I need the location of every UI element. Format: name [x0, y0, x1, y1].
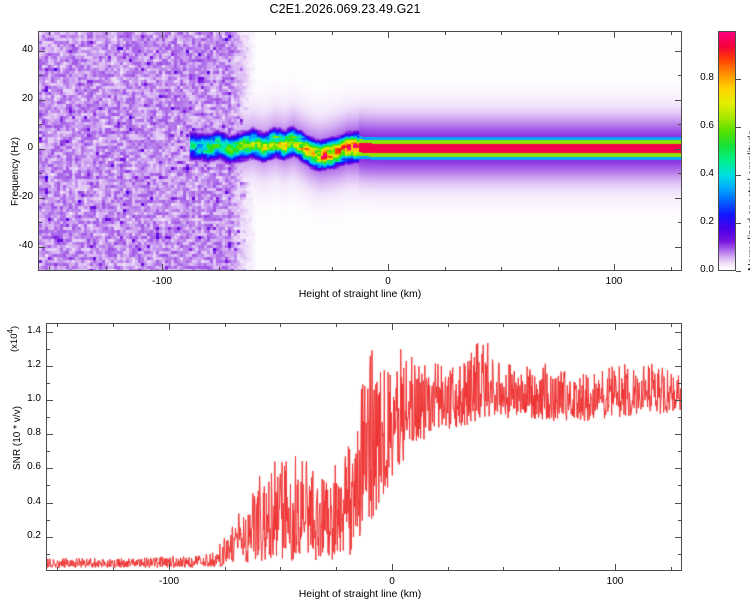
spec-xtick-minor-top [219, 31, 220, 35]
spec-ytick-major [38, 198, 45, 199]
spectrogram-plot-area [38, 31, 682, 271]
snr-xtick-major-top [615, 323, 616, 330]
spec-xtick-minor [558, 267, 559, 271]
snr-xtick-minor-top [225, 323, 226, 327]
colorbar-tick-label: 0.6 [688, 120, 714, 131]
snr-xtick-label: -100 [153, 576, 185, 587]
snr-ytick-minor-right [678, 383, 682, 384]
spec-xtick-minor-top [275, 31, 276, 35]
snr-xtick-label: 100 [599, 576, 631, 587]
snr-xtick-minor [57, 567, 58, 571]
spec-xtick-minor [501, 267, 502, 271]
snr-ytick-minor-right [678, 554, 682, 555]
spec-xtick-major-top [388, 31, 389, 38]
snr-xtick-major [169, 564, 170, 571]
colorbar-tick-label: 0.2 [688, 216, 714, 227]
spec-ytick-major-right [675, 100, 682, 101]
snr-ytick-minor-right [678, 485, 682, 486]
snr-ytick-label: 0.4 [12, 496, 41, 507]
snr-ytick-minor-right [678, 417, 682, 418]
snr-xtick-major [615, 564, 616, 571]
spec-xtick-major [162, 264, 163, 271]
spec-xtick-minor [219, 267, 220, 271]
snr-xtick-major-top [392, 323, 393, 330]
spec-ytick-major [38, 100, 45, 101]
spec-ytick-label: -20 [6, 191, 33, 202]
spec-xtick-minor-top [501, 31, 502, 35]
spec-xtick-minor-top [332, 31, 333, 35]
snr-xtick-label: 0 [376, 576, 408, 587]
snr-plot-area [46, 323, 682, 571]
snr-ytick-minor-right [678, 349, 682, 350]
spec-ytick-major-right [675, 198, 682, 199]
colorbar-tick-label: 0.0 [688, 264, 714, 275]
snr-ytick-major-right [675, 468, 682, 469]
spec-ylabel: Frequency (Hz) [10, 206, 79, 217]
spec-xtick-minor [106, 267, 107, 271]
spec-ytick-major [38, 149, 45, 150]
snr-xtick-minor-top [57, 323, 58, 327]
snr-ytick-label: 0.6 [12, 461, 41, 472]
spec-xtick-major-top [614, 31, 615, 38]
snr-ytick-minor-right [678, 451, 682, 452]
spec-ytick-minor-right [678, 75, 682, 76]
snr-ytick-major-right [675, 400, 682, 401]
snr-trace [47, 324, 681, 570]
snr-xtick-minor [113, 567, 114, 571]
snr-ytick-major-right [675, 537, 682, 538]
spec-ytick-minor-right [678, 173, 682, 174]
spec-xtick-minor [49, 267, 50, 271]
spec-xtick-label: 0 [372, 276, 404, 287]
spec-xtick-minor-top [671, 31, 672, 35]
spec-xtick-label: 100 [598, 276, 630, 287]
snr-xlabel: Height of straight line (km) [210, 588, 510, 600]
snr-xtick-major-top [169, 323, 170, 330]
spec-ytick-major-right [675, 247, 682, 248]
snr-xtick-minor [503, 567, 504, 571]
spec-xtick-minor [332, 267, 333, 271]
snr-ytick-minor [46, 417, 50, 418]
snr-ytick-label: 0.8 [12, 427, 41, 438]
spec-ytick-minor [38, 75, 42, 76]
snr-xtick-minor [336, 567, 337, 571]
snr-ytick-major [46, 468, 53, 469]
spec-xtick-major [388, 264, 389, 271]
spec-ytick-minor [38, 222, 42, 223]
snr-ytick-minor [46, 349, 50, 350]
colorbar-tick [736, 223, 741, 224]
spec-xtick-minor-top [558, 31, 559, 35]
spec-xtick-label: -100 [146, 276, 178, 287]
snr-ytick-major-right [675, 434, 682, 435]
snr-ytick-minor [46, 554, 50, 555]
snr-ytick-major-right [675, 503, 682, 504]
colorbar [718, 31, 736, 271]
snr-ytick-minor [46, 485, 50, 486]
snr-ytick-label: 0.2 [12, 530, 41, 541]
spec-xtick-minor [671, 267, 672, 271]
colorbar-label: Normalized spectral amplitude [746, 271, 750, 283]
snr-ytick-label: 1.4 [12, 325, 41, 336]
snr-ytick-label: 1.2 [12, 359, 41, 370]
snr-xtick-minor-top [280, 323, 281, 327]
snr-ytick-major [46, 537, 53, 538]
spec-ytick-major [38, 51, 45, 52]
snr-xtick-minor [671, 567, 672, 571]
snr-ytick-major-right [675, 332, 682, 333]
snr-ytick-major [46, 400, 53, 401]
spec-ytick-label: 20 [6, 93, 33, 104]
snr-xtick-minor-top [559, 323, 560, 327]
colorbar-tick [736, 271, 741, 272]
colorbar-tick [736, 175, 741, 176]
snr-xtick-minor-top [671, 323, 672, 327]
snr-xtick-minor [225, 567, 226, 571]
spec-ytick-minor-right [678, 124, 682, 125]
spec-xtick-minor-top [106, 31, 107, 35]
snr-ytick-minor [46, 383, 50, 384]
figure-title: C2E1.2026.069.23.49.G21 [0, 2, 690, 16]
spec-ytick-label: -40 [6, 240, 33, 251]
snr-ytick-minor [46, 451, 50, 452]
spec-xlabel: Height of straight line (km) [210, 288, 510, 300]
snr-ytick-major-right [675, 366, 682, 367]
spec-xtick-minor-top [445, 31, 446, 35]
snr-xtick-minor-top [113, 323, 114, 327]
colorbar-tick [736, 79, 741, 80]
spec-xtick-minor [445, 267, 446, 271]
snr-xtick-minor-top [503, 323, 504, 327]
spectrogram-image [39, 32, 681, 270]
spec-ytick-minor [38, 173, 42, 174]
spec-ytick-minor-right [678, 222, 682, 223]
snr-ytick-minor [46, 520, 50, 521]
snr-ytick-label: 1.0 [12, 393, 41, 404]
snr-ytick-minor-right [678, 520, 682, 521]
snr-xtick-minor [448, 567, 449, 571]
spec-xtick-major [614, 264, 615, 271]
colorbar-tick-label: 0.4 [688, 168, 714, 179]
spec-xtick-minor [275, 267, 276, 271]
spec-ytick-minor [38, 124, 42, 125]
spec-ytick-major [38, 247, 45, 248]
snr-ytick-major [46, 332, 53, 333]
spec-ytick-label: 40 [6, 44, 33, 55]
snr-xtick-minor [280, 567, 281, 571]
colorbar-tick [736, 127, 741, 128]
spec-ytick-major-right [675, 149, 682, 150]
spec-xtick-minor-top [49, 31, 50, 35]
spec-ytick-major-right [675, 51, 682, 52]
snr-ytick-major [46, 434, 53, 435]
snr-xtick-minor-top [448, 323, 449, 327]
figure-root: C2E1.2026.069.23.49.G21 Frequency (Hz) H… [0, 0, 750, 600]
snr-ytick-major [46, 503, 53, 504]
spec-ytick-label: 0 [6, 142, 33, 153]
snr-ytick-major [46, 366, 53, 367]
snr-xtick-minor-top [336, 323, 337, 327]
spec-xtick-major-top [162, 31, 163, 38]
colorbar-tick-label: 0.8 [688, 72, 714, 83]
snr-xtick-major [392, 564, 393, 571]
snr-xtick-minor [559, 567, 560, 571]
